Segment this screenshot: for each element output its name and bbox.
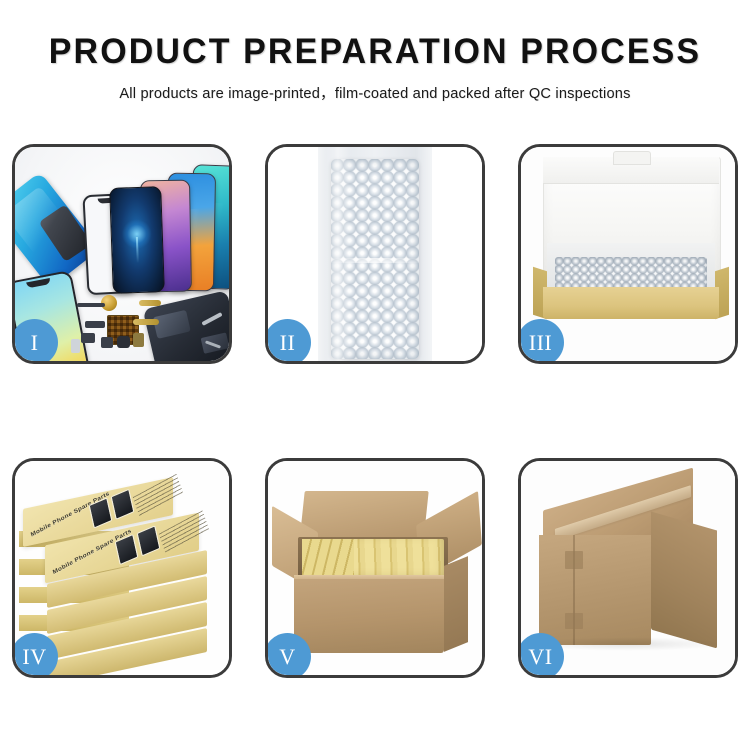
sim-tray-icon	[133, 333, 144, 347]
process-step-panel-4[interactable]: Mobile Phone Spare Parts Mobile Phone Sp…	[12, 458, 232, 678]
box-lid-tab	[613, 151, 651, 165]
step-badge-5: V	[265, 633, 311, 678]
process-step-grid: I II III	[12, 144, 738, 678]
carton-front-face	[539, 535, 651, 645]
page-header: PRODUCT PREPARATION PROCESS All products…	[0, 0, 750, 103]
carton-back-flap	[299, 491, 428, 543]
process-step-panel-6[interactable]: VI	[518, 458, 738, 678]
bubble-wrapped-contents-icon	[555, 257, 707, 291]
carton-right-face	[444, 556, 468, 652]
carton-hand-hole	[565, 551, 583, 569]
product-photo-icon	[137, 525, 161, 556]
box-spec-lines	[159, 510, 210, 553]
page-title: PRODUCT PREPARATION PROCESS	[11, 34, 739, 69]
carton-right-face	[651, 512, 717, 649]
step-badge-4: IV	[12, 633, 58, 678]
step-badge-3: III	[518, 319, 564, 364]
step-badge-1: I	[12, 319, 58, 364]
carton-hand-hole	[565, 613, 583, 629]
process-step-panel-2[interactable]: II	[265, 144, 485, 364]
step-badge-2: II	[265, 319, 311, 364]
step-badge-6: VI	[518, 633, 564, 678]
phone-dark-screen-icon	[109, 186, 165, 294]
kraft-box-front-icon	[543, 287, 719, 319]
box-spec-lines	[133, 474, 184, 517]
process-step-panel-5[interactable]: V	[265, 458, 485, 678]
jellyfish-wallpaper-icon	[121, 218, 152, 249]
process-step-panel-1[interactable]: I	[12, 144, 232, 364]
page-subtitle: All products are image-printed，film-coat…	[0, 82, 750, 103]
camera-module-icon	[81, 333, 95, 343]
screwdriver-bit-icon	[71, 339, 80, 353]
plastic-gloss-highlight	[325, 147, 351, 361]
earpiece-speaker-icon	[77, 303, 105, 307]
button-part-icon	[101, 337, 113, 348]
process-step-panel-3[interactable]: III	[518, 144, 738, 364]
speaker-part-icon	[117, 336, 130, 348]
flex-cable-icon	[133, 319, 159, 325]
small-connector-icon	[85, 321, 105, 328]
carton-front-face	[294, 579, 444, 653]
flex-cable-icon	[139, 300, 161, 306]
product-photo-icon	[111, 489, 135, 520]
